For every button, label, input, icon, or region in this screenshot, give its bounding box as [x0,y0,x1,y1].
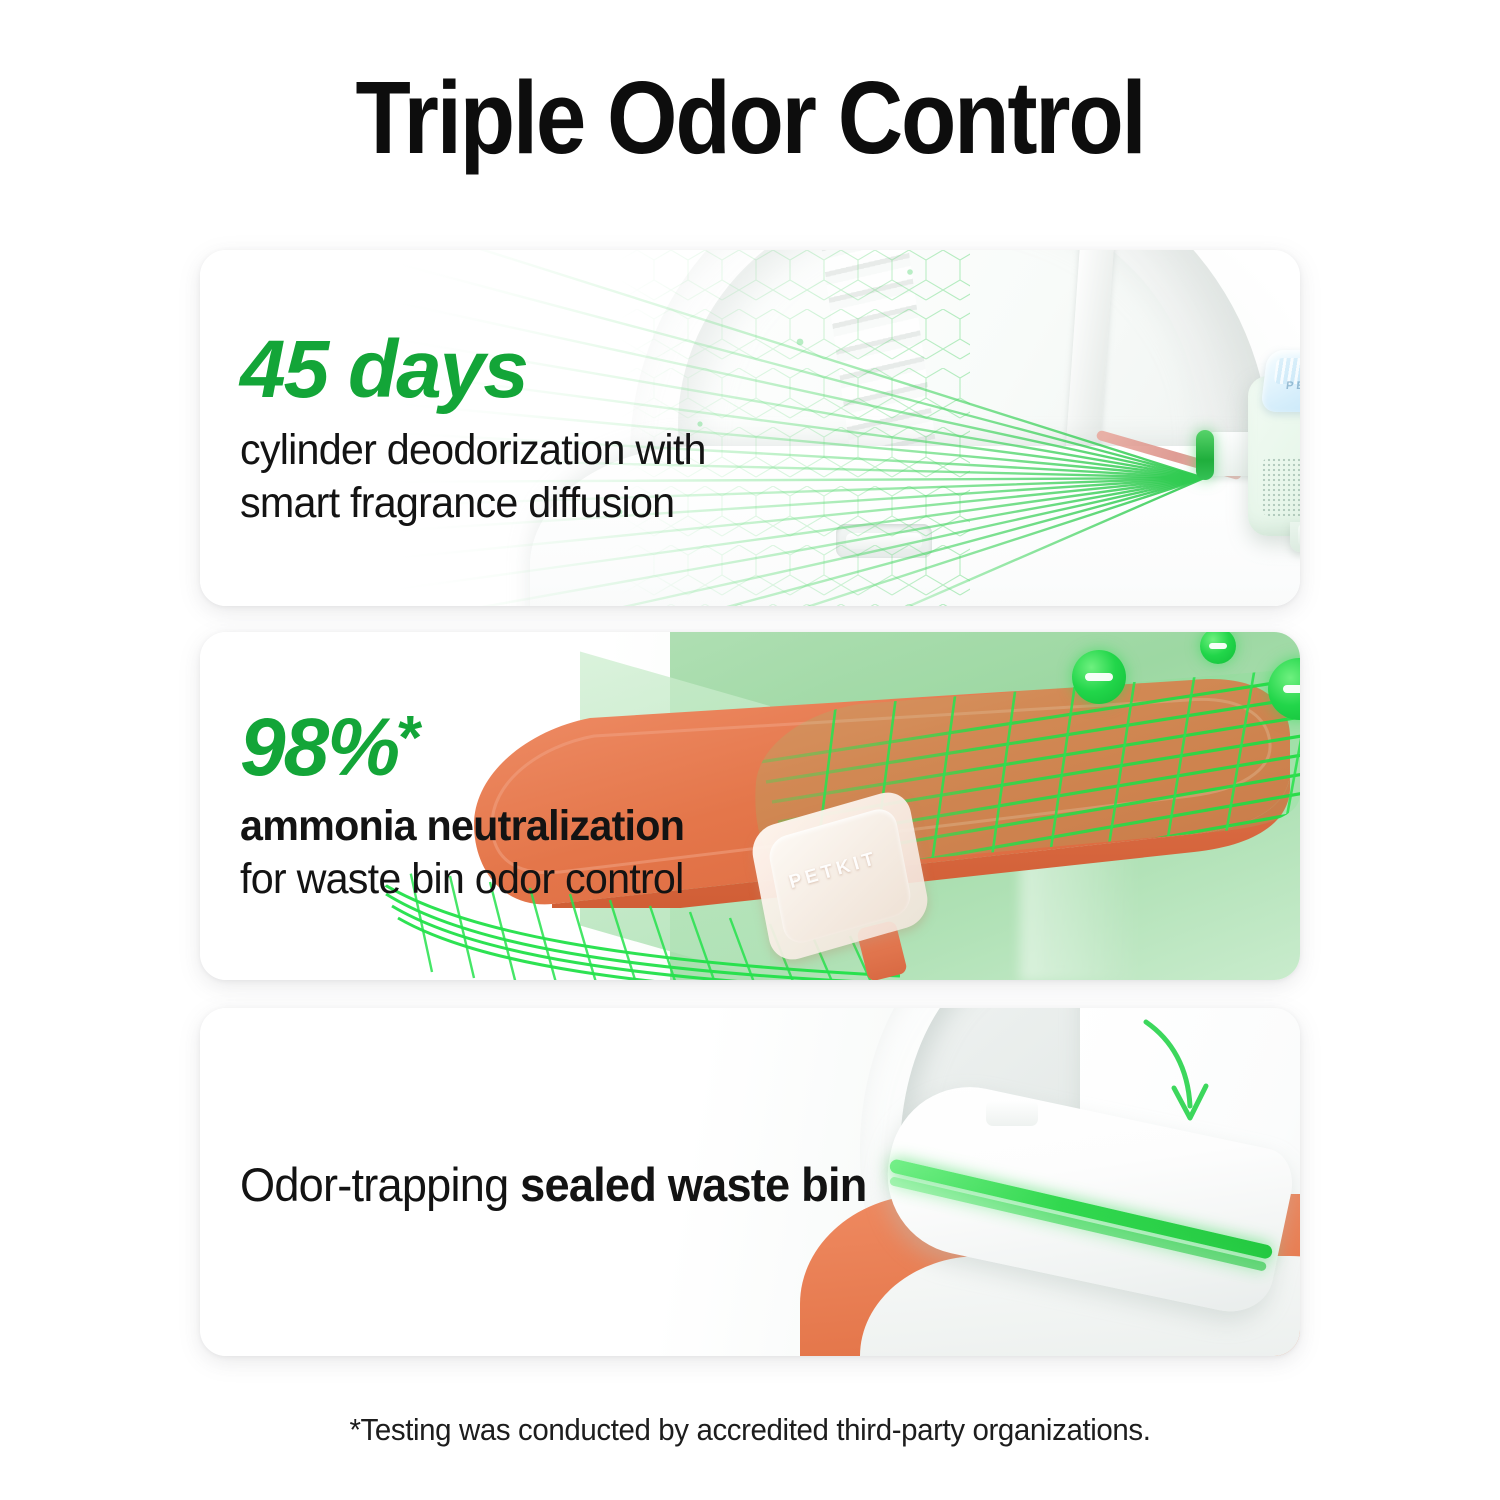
page-title: Triple Odor Control [90,62,1410,173]
cartridge-foot-clip [1290,522,1300,552]
feature-card-cylinder-deodorization: PETKIT 45 days cylinder deodorization wi… [200,250,1300,606]
seal-gasket-line-primary [888,1158,1273,1260]
feature-card-ammonia-neutralization: PETKIT 98%* ammonia neutralization for w… [200,632,1300,980]
close-direction-arrow-icon [1130,1014,1250,1134]
diffuser-nozzle-tip [1196,430,1214,480]
card-3-line-2: sealed waste bin [520,1158,866,1211]
card-1-stat: 45 days [240,330,725,410]
card-2-text-block: 98%* ammonia neutralization for waste bi… [240,708,703,905]
card-1-text-block: 45 days cylinder deodorization with smar… [240,330,725,529]
cartridge-vent-grille [1262,458,1300,516]
ion-badge-1 [1072,650,1126,704]
cartridge-brand-label: PETKIT [1285,380,1300,392]
seal-gasket-line-secondary [889,1176,1267,1272]
waste-bin-petkit-button: PETKIT [758,808,922,944]
card-1-line-1: cylinder deodorization with [240,424,706,476]
card-3-text-block: Odor-trapping sealed waste bin [240,1156,893,1213]
card-3-line-1: Odor-trapping [240,1158,520,1211]
footnote-disclaimer: *Testing was conducted by accredited thi… [38,1412,1463,1448]
sealing-flap-knob [986,1100,1038,1126]
card-2-line-2: for waste bin odor control [240,853,684,905]
feature-card-sealed-waste-bin: Odor-trapping sealed waste bin [200,1008,1300,1356]
infographic-page: Triple Odor Control [0,0,1500,1500]
seal-gasket [890,1158,1290,1288]
card-1-stat-value: 45 days [240,324,527,415]
card-2-stat: 98%* [240,708,703,788]
card-2-stat-value: 98% [240,702,398,793]
card-1-line-2: smart fragrance diffusion [240,477,706,529]
deodorizer-cartridge: PETKIT [1248,350,1300,538]
card-2-stat-asterisk: * [398,704,420,773]
card-3-heading: Odor-trapping sealed waste bin [240,1156,867,1213]
card-2-line-1: ammonia neutralization [240,800,684,852]
